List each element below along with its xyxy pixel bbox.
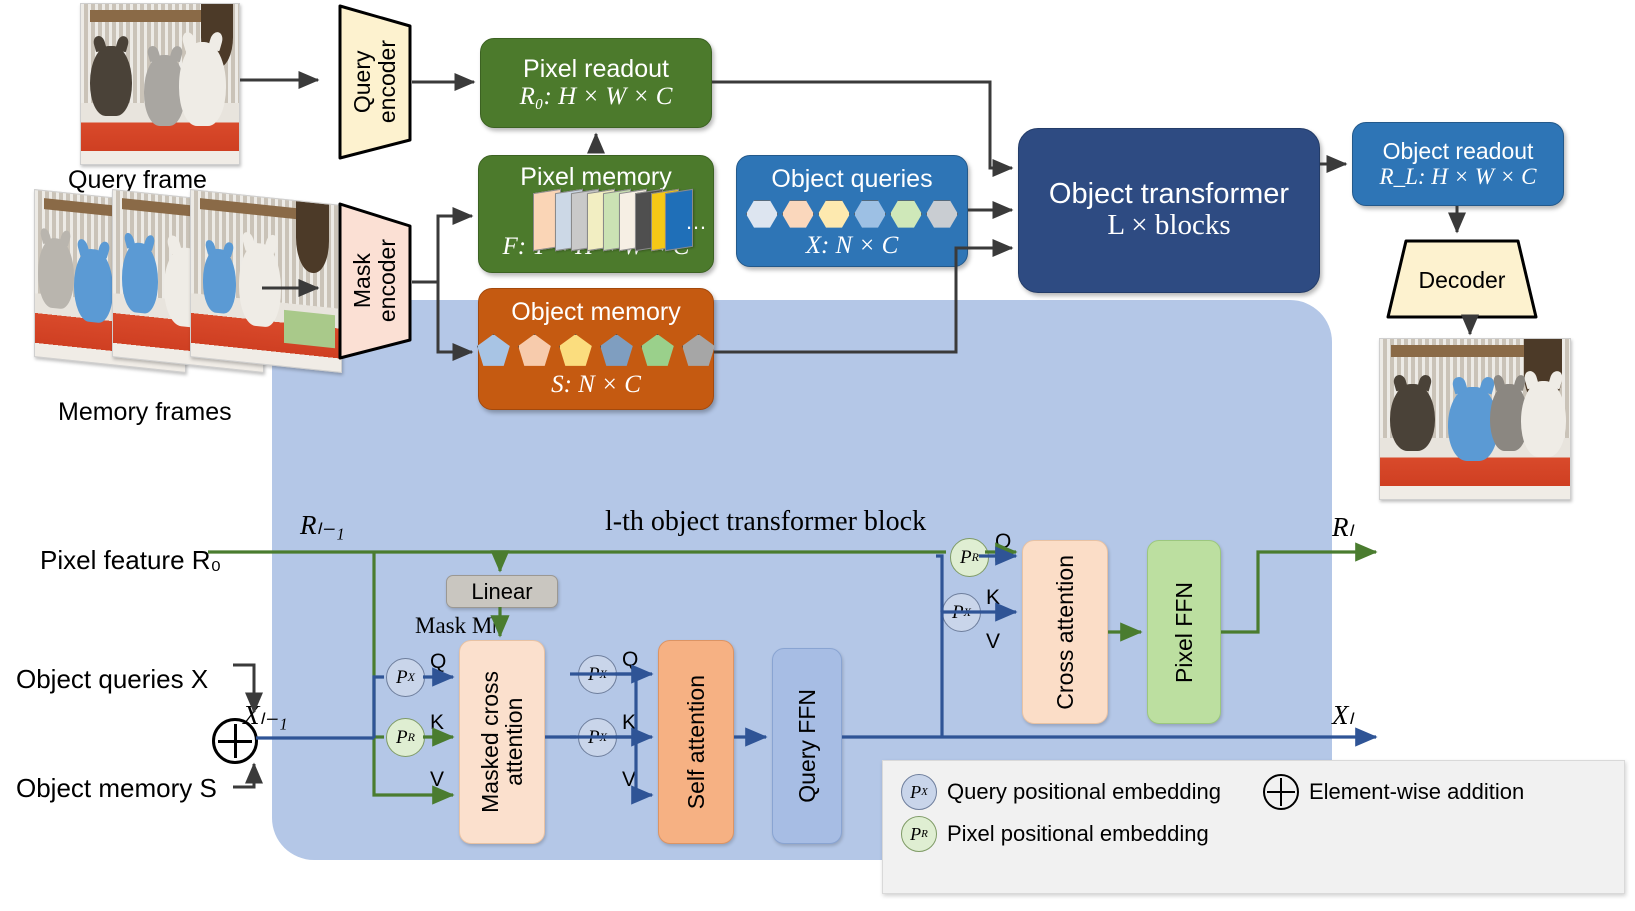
x-out-label: Xₗ bbox=[1332, 700, 1353, 731]
output-segmentation-image bbox=[1379, 338, 1571, 500]
qkv-label-k2: K bbox=[622, 711, 636, 735]
element-wise-addition-icon bbox=[212, 718, 258, 764]
pixel-feature-input-label: Pixel feature R₀ bbox=[40, 545, 221, 576]
qkv-label-v3: V bbox=[986, 630, 1000, 654]
object-memory-title: Object memory bbox=[511, 299, 680, 326]
object-queries-box[interactable]: Object queries X: N × C bbox=[736, 155, 968, 267]
qkv-label-q2: Q bbox=[622, 648, 638, 672]
r-prev-label: Rₗ₋₁ bbox=[300, 510, 345, 541]
legend-label-query-pos-embed: Query positional embedding bbox=[947, 779, 1221, 805]
query-encoder[interactable]: Query encoder bbox=[322, 0, 428, 164]
mask-label: Mask Mₗ bbox=[415, 613, 496, 639]
diagram-canvas: Query frame Memory frames bbox=[0, 0, 1635, 911]
linear-label: Linear bbox=[471, 579, 532, 605]
object-transformer-box[interactable]: Object transformer L × blocks bbox=[1018, 128, 1320, 293]
query-encoder-label: Query encoder bbox=[350, 40, 400, 123]
object-memory-shape: S: N × C bbox=[551, 371, 641, 399]
block-panel-title: l-th object transformer block bbox=[605, 506, 926, 538]
self-attention-block[interactable]: Self attention bbox=[658, 640, 734, 844]
query-frame-image bbox=[80, 3, 240, 165]
masked-cross-attention-label: Masked cross attention bbox=[478, 671, 526, 813]
mask-encoder[interactable]: Mask encoder bbox=[322, 198, 428, 364]
object-queries-title: Object queries bbox=[771, 166, 932, 193]
legend-item-pixel-pos-embed: PR Pixel positional embedding bbox=[901, 816, 1209, 852]
object-queries-shape: X: N × C bbox=[806, 232, 899, 260]
object-readout-shape: R_L: H × W × C bbox=[1380, 164, 1537, 189]
pr-legend-icon: PR bbox=[901, 816, 937, 852]
linear-box[interactable]: Linear bbox=[446, 575, 558, 608]
decoder-label: Decoder bbox=[1419, 268, 1506, 293]
pr-embedding-icon-2: PR bbox=[950, 538, 989, 577]
px-embedding-icon-4: PX bbox=[942, 593, 981, 632]
object-queries-hex-row bbox=[746, 200, 958, 229]
memory-frames-caption: Memory frames bbox=[58, 398, 232, 427]
pr-embedding-icon-1: PR bbox=[386, 718, 425, 757]
query-frame-caption: Query frame bbox=[68, 166, 207, 195]
pixel-readout-box[interactable]: Pixel readout R₀: H × W × C bbox=[480, 38, 712, 128]
r-out-label: Rₗ bbox=[1332, 512, 1353, 543]
legend-panel: PX Query positional embedding Element-wi… bbox=[882, 760, 1625, 894]
object-memory-box[interactable]: Object memory S: N × C bbox=[478, 288, 714, 410]
px-legend-icon: PX bbox=[901, 774, 937, 810]
qkv-label-v1: V bbox=[430, 768, 444, 792]
pixel-memory-ellipsis: … bbox=[685, 209, 707, 235]
pixel-memory-sheet-stack: … bbox=[479, 191, 713, 233]
masked-cross-attention-block[interactable]: Masked cross attention bbox=[459, 640, 545, 844]
object-transformer-line1: Object transformer bbox=[1049, 179, 1289, 210]
pixel-readout-title: Pixel readout bbox=[523, 56, 669, 83]
qkv-label-k3: K bbox=[986, 586, 1000, 610]
self-attention-label: Self attention bbox=[684, 675, 708, 809]
pixel-memory-title: Pixel memory bbox=[520, 164, 671, 191]
legend-label-elementwise-addition: Element-wise addition bbox=[1309, 779, 1524, 805]
decoder[interactable]: Decoder bbox=[1382, 237, 1542, 323]
pixel-ffn-block[interactable]: Pixel FFN bbox=[1147, 540, 1221, 724]
cross-attention-block[interactable]: Cross attention bbox=[1022, 540, 1108, 724]
qkv-label-v2: V bbox=[622, 768, 636, 792]
pixel-memory-box[interactable]: Pixel memory … F: T × H × W × C bbox=[478, 155, 714, 273]
qkv-label-q3: Q bbox=[995, 530, 1011, 554]
qkv-label-q1: Q bbox=[430, 650, 446, 674]
object-memory-input-label: Object memory S bbox=[16, 773, 217, 804]
query-ffn-block[interactable]: Query FFN bbox=[772, 648, 842, 844]
pixel-ffn-label: Pixel FFN bbox=[1172, 582, 1196, 683]
cross-attention-label: Cross attention bbox=[1053, 555, 1077, 710]
object-queries-input-label: Object queries X bbox=[16, 664, 208, 695]
oplus-legend-icon bbox=[1263, 774, 1299, 810]
pixel-readout-shape: R₀: H × W × C bbox=[520, 83, 673, 111]
px-embedding-icon-3: PX bbox=[578, 718, 617, 757]
object-memory-pent-row bbox=[477, 334, 716, 367]
legend-label-pixel-pos-embed: Pixel positional embedding bbox=[947, 821, 1209, 847]
object-readout-box[interactable]: Object readout R_L: H × W × C bbox=[1352, 122, 1564, 206]
object-readout-title: Object readout bbox=[1383, 139, 1534, 163]
mask-encoder-label: Mask encoder bbox=[350, 239, 400, 322]
px-embedding-icon-2: PX bbox=[578, 655, 617, 694]
object-transformer-line2: L × blocks bbox=[1107, 210, 1230, 242]
px-embedding-icon-1: PX bbox=[386, 658, 425, 697]
legend-item-query-pos-embed: PX Query positional embedding bbox=[901, 774, 1221, 810]
legend-item-elementwise-addition: Element-wise addition bbox=[1263, 774, 1524, 810]
qkv-label-k1: K bbox=[430, 711, 444, 735]
query-ffn-label: Query FFN bbox=[795, 689, 819, 803]
